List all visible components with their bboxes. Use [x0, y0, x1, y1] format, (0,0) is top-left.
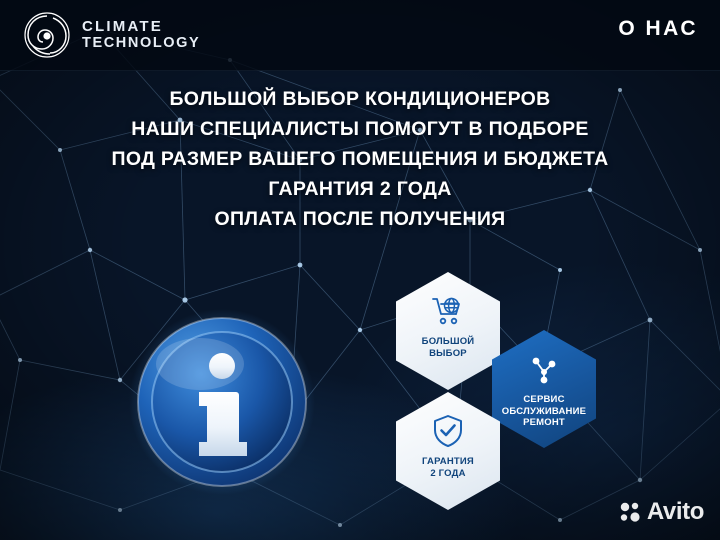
climate-spiral-logo-icon — [22, 10, 72, 60]
network-lines-decoration — [0, 0, 720, 540]
headline-line-4: ГАРАНТИЯ 2 ГОДА — [0, 174, 720, 204]
choice-label-1: БОЛЬШОЙ — [422, 336, 475, 347]
headline-block: БОЛЬШОЙ ВЫБОР КОНДИЦИОНЕРОВ НАШИ СПЕЦИАЛ… — [0, 84, 720, 234]
section-title: О НАС — [618, 17, 698, 41]
avito-watermark: Avito — [619, 498, 704, 526]
poster-canvas: CLIMATE TECHNOLOGY О НАС БОЛЬШОЙ ВЫБОР К… — [0, 0, 720, 540]
feature-hex-service-label: СЕРВИС ОБСЛУЖИВАНИЕ РЕМОНТ — [502, 394, 586, 429]
feature-hex-choice-label: БОЛЬШОЙ ВЫБОР — [422, 336, 475, 359]
avito-watermark-text: Avito — [647, 498, 704, 526]
top-bar: CLIMATE TECHNOLOGY О НАС — [0, 0, 720, 71]
warranty-label-2: 2 ГОДА — [430, 468, 465, 479]
feature-hex-warranty-label: ГАРАНТИЯ 2 ГОДА — [422, 456, 474, 479]
service-label-3: РЕМОНТ — [523, 417, 565, 428]
choice-label-2: ВЫБОР — [429, 348, 467, 359]
network-nodes-icon — [527, 352, 561, 386]
shield-check-icon — [431, 414, 465, 448]
service-label-2: ОБСЛУЖИВАНИЕ — [502, 406, 586, 417]
headline-line-1: БОЛЬШОЙ ВЫБОР КОНДИЦИОНЕРОВ — [0, 84, 720, 114]
shopping-cart-globe-icon — [431, 294, 465, 328]
service-label-1: СЕРВИС — [523, 394, 564, 405]
info-badge — [128, 308, 316, 496]
warranty-label-1: ГАРАНТИЯ — [422, 456, 474, 467]
brand-logo-text: CLIMATE TECHNOLOGY — [82, 18, 200, 53]
headline-line-3: ПОД РАЗМЕР ВАШЕГО ПОМЕЩЕНИЯ И БЮДЖЕТА — [0, 144, 720, 174]
headline-line-2: НАШИ СПЕЦИАЛИСТЫ ПОМОГУТ В ПОДБОРЕ — [0, 114, 720, 144]
brand-line-1: CLIMATE — [82, 18, 200, 36]
avito-dots-icon — [619, 501, 641, 523]
headline-line-5: ОПЛАТА ПОСЛЕ ПОЛУЧЕНИЯ — [0, 204, 720, 234]
brand-logo: CLIMATE TECHNOLOGY — [22, 10, 200, 60]
brand-line-2: TECHNOLOGY — [82, 35, 200, 52]
